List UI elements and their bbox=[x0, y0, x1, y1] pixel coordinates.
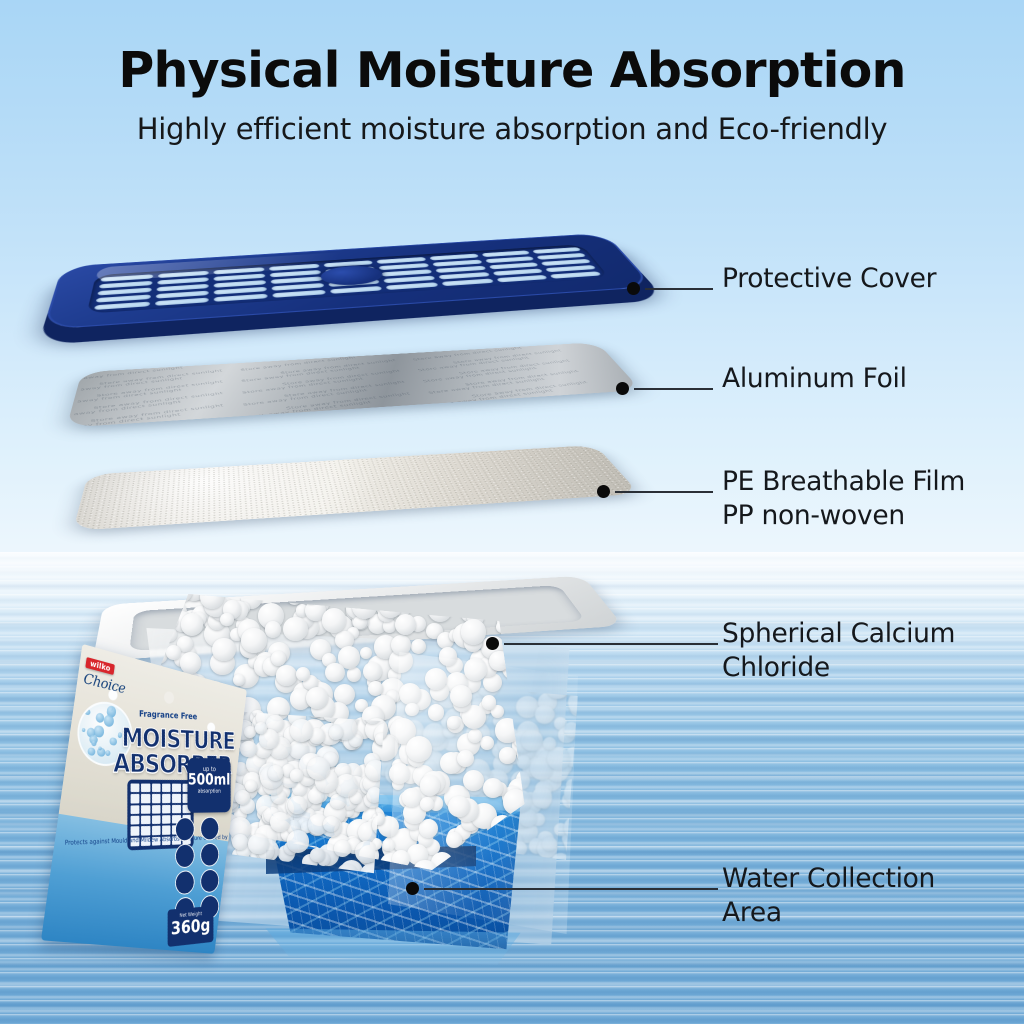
calcium-chloride-bead bbox=[241, 628, 266, 653]
cover-vent-cell bbox=[386, 282, 439, 290]
calcium-chloride-bead bbox=[368, 681, 383, 696]
cover-vent-cell bbox=[441, 279, 493, 287]
label-grid-cell bbox=[162, 794, 171, 803]
capacity-suffix: absorption bbox=[188, 788, 231, 794]
label-bubble-dot bbox=[88, 747, 96, 756]
calcium-chloride-bead bbox=[271, 651, 286, 666]
label-grid-cell bbox=[162, 784, 171, 793]
label-grid-cell bbox=[172, 784, 181, 793]
calcium-chloride-bead bbox=[322, 608, 347, 633]
label-feature-icon bbox=[200, 817, 219, 841]
calcium-chloride-bead bbox=[235, 790, 250, 805]
calcium-chloride-bead bbox=[240, 741, 256, 757]
calcium-chloride-bead bbox=[310, 848, 324, 862]
cover-vent-cell bbox=[155, 298, 209, 306]
calcium-chloride-bead bbox=[325, 663, 345, 683]
callout-label-pe-breathable-film: PE Breathable Film PP non-woven bbox=[722, 465, 965, 533]
callout-dot-protective-cover bbox=[627, 282, 640, 295]
label-grid-cell bbox=[152, 826, 161, 835]
label-grid-cell bbox=[152, 794, 161, 803]
callout-label-spherical-calcium-chloride: Spherical Calcium Chloride bbox=[722, 617, 955, 685]
calcium-chloride-bead bbox=[187, 582, 203, 592]
cover-vent-cell bbox=[214, 274, 265, 282]
calcium-chloride-bead bbox=[294, 582, 306, 590]
callout-leader-line-water-collection-area bbox=[424, 888, 718, 890]
calcium-chloride-bead bbox=[461, 619, 486, 644]
cover-vent-cell bbox=[97, 288, 151, 296]
calcium-chloride-bead bbox=[220, 613, 234, 627]
film-fiber-texture bbox=[73, 445, 640, 531]
cover-vent-cell bbox=[550, 271, 602, 278]
label-grid-cell bbox=[131, 805, 140, 814]
label-grid-cell bbox=[152, 805, 161, 814]
page-subtitle: Highly efficient moisture absorption and… bbox=[0, 112, 1024, 146]
callout-label-water-collection-area: Water Collection Area bbox=[722, 862, 935, 930]
protective-cover-layer bbox=[62, 214, 642, 339]
cover-vent-cell bbox=[214, 287, 267, 295]
calcium-chloride-bead bbox=[244, 726, 256, 738]
capacity-value: 500ml bbox=[188, 772, 231, 788]
foil-printed-text: Store away from direct sunlightStore awa… bbox=[66, 342, 641, 427]
calcium-chloride-bead bbox=[296, 667, 310, 681]
calcium-chloride-bead bbox=[395, 614, 416, 635]
calcium-chloride-bead bbox=[391, 635, 411, 655]
label-feature-icon bbox=[175, 844, 194, 869]
calcium-chloride-bead bbox=[572, 799, 578, 813]
callout-dot-pe-breathable-film bbox=[597, 485, 610, 498]
calcium-chloride-bead bbox=[323, 816, 339, 832]
cover-vent-cell bbox=[271, 283, 323, 291]
calcium-chloride-bead bbox=[290, 769, 302, 781]
label-grid-cell bbox=[141, 816, 150, 825]
calcium-chloride-bead bbox=[315, 582, 329, 591]
label-grid-cell bbox=[152, 815, 161, 824]
cover-vent-cell bbox=[94, 302, 150, 310]
label-grid-cell bbox=[162, 815, 171, 824]
cover-vent-cell bbox=[214, 280, 266, 288]
calcium-chloride-bead bbox=[293, 582, 306, 590]
cover-plate bbox=[42, 233, 654, 330]
label-bubble-dot bbox=[84, 708, 90, 715]
calcium-chloride-bead bbox=[363, 662, 382, 681]
callout-leader-line-protective-cover bbox=[645, 288, 713, 290]
label-bubble-dot bbox=[81, 728, 85, 733]
label-bubble-dot bbox=[91, 740, 97, 747]
cover-vent-cell bbox=[384, 276, 436, 284]
calcium-chloride-bead bbox=[180, 652, 202, 674]
calcium-chloride-bead bbox=[287, 830, 309, 852]
cover-vent-cell bbox=[157, 277, 209, 285]
label-grid-cell bbox=[131, 794, 140, 803]
calcium-chloride-bead bbox=[237, 582, 257, 597]
label-net-weight-badge: Net Weight 360g bbox=[168, 906, 214, 947]
calcium-chloride-bead bbox=[411, 639, 426, 654]
calcium-chloride-bead bbox=[232, 834, 248, 850]
label-feature-icon bbox=[200, 843, 219, 867]
calcium-chloride-bead bbox=[307, 757, 330, 780]
page-title: Physical Moisture Absorption bbox=[0, 42, 1024, 99]
label-bubble-dot bbox=[105, 749, 111, 756]
label-grid-cell bbox=[152, 784, 161, 793]
label-grid-cell bbox=[141, 794, 150, 803]
tub-wall-sheen bbox=[388, 646, 578, 946]
label-grid-cell bbox=[131, 783, 140, 792]
calcium-chloride-bead bbox=[575, 737, 578, 755]
label-feature-icon bbox=[200, 869, 219, 894]
label-grid-cell bbox=[131, 826, 140, 835]
cover-vent-cell bbox=[328, 279, 380, 287]
label-grid-cell bbox=[172, 805, 181, 814]
label-grid-cell bbox=[141, 805, 150, 814]
calcium-chloride-bead bbox=[576, 826, 578, 838]
label-grid-cell bbox=[162, 805, 171, 814]
tub-bottom-edge bbox=[248, 928, 538, 968]
cover-body bbox=[42, 233, 654, 330]
calcium-chloride-bead bbox=[181, 613, 203, 635]
cover-vent-cell bbox=[158, 271, 209, 278]
cover-vent-cell bbox=[271, 276, 323, 284]
label-grid-cell bbox=[141, 826, 150, 835]
calcium-chloride-bead bbox=[265, 621, 282, 638]
calcium-chloride-bead bbox=[268, 765, 283, 780]
cover-vent-cell bbox=[100, 274, 153, 282]
calcium-chloride-bead bbox=[355, 841, 377, 863]
cover-vent-cell bbox=[496, 275, 548, 283]
calcium-chloride-bead bbox=[577, 829, 578, 843]
cover-vent-cell bbox=[155, 291, 209, 299]
calcium-chloride-bead bbox=[347, 667, 361, 681]
calcium-chloride-bead bbox=[329, 725, 343, 739]
label-feature-icon bbox=[175, 870, 194, 895]
cover-vent-cell bbox=[214, 294, 267, 302]
cover-vent-cell bbox=[96, 294, 151, 302]
calcium-chloride-bead bbox=[573, 814, 578, 833]
label-grid-cell bbox=[172, 794, 181, 803]
callout-dot-spherical-calcium-chloride bbox=[486, 637, 499, 650]
pe-breathable-film-layer bbox=[88, 424, 628, 544]
callout-dot-water-collection-area bbox=[406, 882, 419, 895]
infographic-canvas: Physical Moisture Absorption Highly effi… bbox=[0, 0, 1024, 1024]
calcium-chloride-bead bbox=[290, 719, 313, 742]
cover-vent-cell bbox=[272, 290, 325, 298]
calcium-chloride-bead bbox=[276, 665, 296, 685]
label-bubble-dot bbox=[109, 737, 117, 747]
label-feature-icon bbox=[175, 817, 194, 841]
calcium-chloride-bead bbox=[283, 617, 308, 642]
label-grid-cell bbox=[141, 784, 150, 793]
cover-vent-cell bbox=[330, 286, 383, 294]
callout-leader-line-pe-breathable-film bbox=[615, 491, 713, 493]
calcium-chloride-bead bbox=[212, 638, 235, 661]
cover-vent-cell bbox=[156, 284, 209, 292]
calcium-chloride-bead bbox=[334, 840, 351, 857]
callout-dot-aluminum-foil bbox=[616, 382, 629, 395]
callout-leader-line-spherical-calcium-chloride bbox=[504, 643, 718, 645]
label-grid-cell bbox=[131, 816, 140, 825]
aluminum-foil-layer: Store away from direct sunlightStore awa… bbox=[82, 322, 630, 440]
callout-leader-line-aluminum-foil bbox=[634, 388, 713, 390]
callout-label-protective-cover: Protective Cover bbox=[722, 262, 936, 296]
cover-vent-cell bbox=[99, 281, 152, 289]
cover-vent-cell bbox=[438, 272, 490, 279]
label-grid-cell bbox=[162, 826, 171, 835]
cover-vent-grid bbox=[87, 244, 610, 313]
label-capacity-badge: up to 500ml absorption bbox=[188, 758, 231, 813]
callout-label-aluminum-foil: Aluminum Foil bbox=[722, 362, 907, 396]
